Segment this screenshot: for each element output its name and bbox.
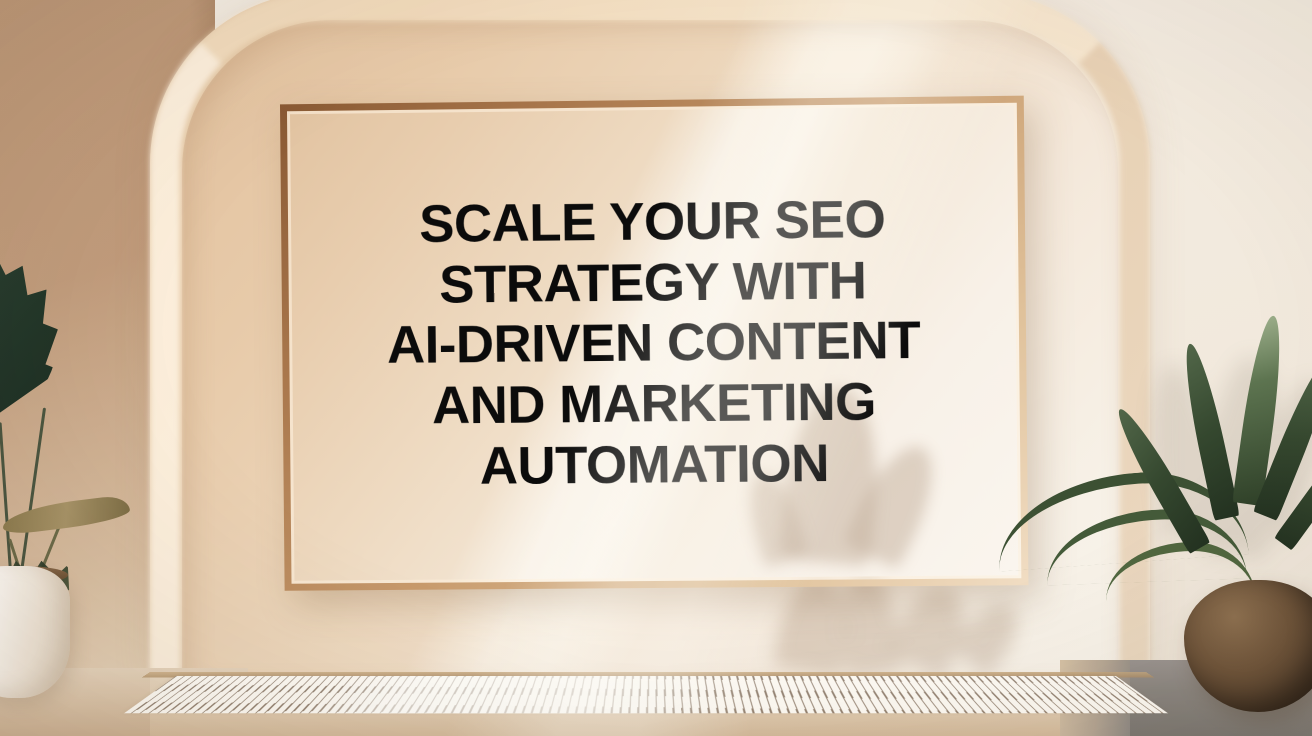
pot-left xyxy=(0,566,70,698)
plant-right xyxy=(1136,352,1312,736)
poster-frame-bevel xyxy=(287,103,1021,584)
plant-left xyxy=(0,236,166,736)
pot-right xyxy=(1184,580,1312,712)
monstera-leaf-large xyxy=(0,233,67,437)
framed-poster[interactable]: SCALE YOUR SEO STRATEGY WITH AI-DRIVEN C… xyxy=(280,96,1028,591)
interior-poster-scene: SCALE YOUR SEO STRATEGY WITH AI-DRIVEN C… xyxy=(0,0,1312,736)
dried-leaf xyxy=(1,494,131,535)
striped-rug xyxy=(124,676,1168,713)
